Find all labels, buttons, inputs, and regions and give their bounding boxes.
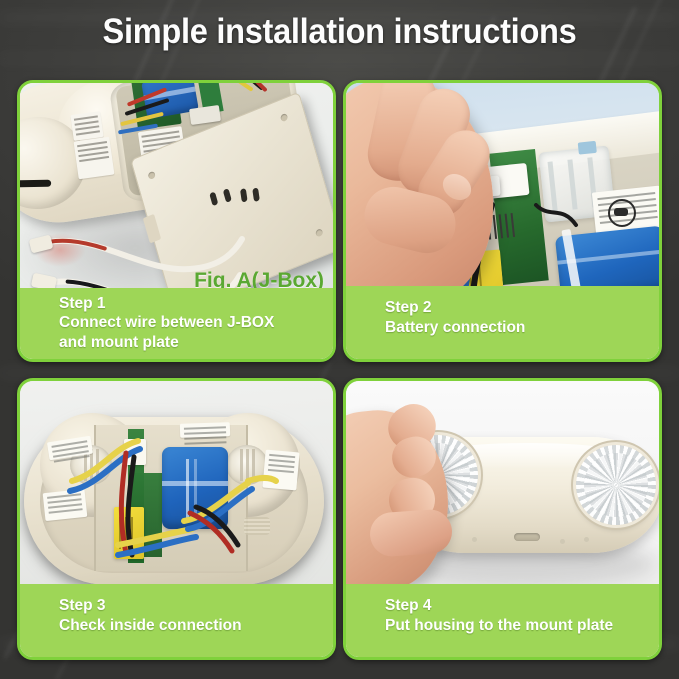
- test-button: [514, 533, 540, 541]
- step-number-2: Step 2: [385, 298, 659, 318]
- led-head-right: [576, 445, 656, 525]
- step-text-1-line-2: and mount plate: [59, 333, 333, 353]
- ul-mark-icon: [608, 199, 636, 227]
- step-number-1: Step 1: [59, 294, 333, 314]
- step-text-1-line-1: Connect wire between J-BOX: [59, 313, 333, 333]
- instruction-panel-step-3: Fig. C Step 3 Check inside connection: [17, 378, 336, 660]
- instruction-graphic: Simple installation instructions: [0, 0, 679, 679]
- internal-wiring: [56, 437, 296, 567]
- step-number-3: Step 3: [59, 596, 333, 616]
- instruction-panel-step-2: Fig. B Step 2 Battery connection: [343, 80, 662, 362]
- caption-step-2: Step 2 Battery connection: [346, 286, 659, 359]
- caption-step-4: Step 4 Put housing to the mount plate: [346, 584, 659, 657]
- step-text-3-line-1: Check inside connection: [59, 616, 333, 636]
- step-text-2-line-1: Battery connection: [385, 318, 659, 338]
- caption-step-1: Step 1 Connect wire between J-BOX and mo…: [20, 288, 333, 360]
- step-number-4: Step 4: [385, 596, 659, 616]
- instruction-panel-step-1: Fig. A(J-Box) Step 1 Connect wire betwee…: [17, 80, 336, 362]
- page-title: Simple installation instructions: [24, 12, 655, 52]
- instruction-panel-step-4: Fig. D Step 4 Put housing to the mount p…: [343, 378, 662, 660]
- step-text-4-line-1: Put housing to the mount plate: [385, 616, 659, 636]
- caption-step-3: Step 3 Check inside connection: [20, 584, 333, 657]
